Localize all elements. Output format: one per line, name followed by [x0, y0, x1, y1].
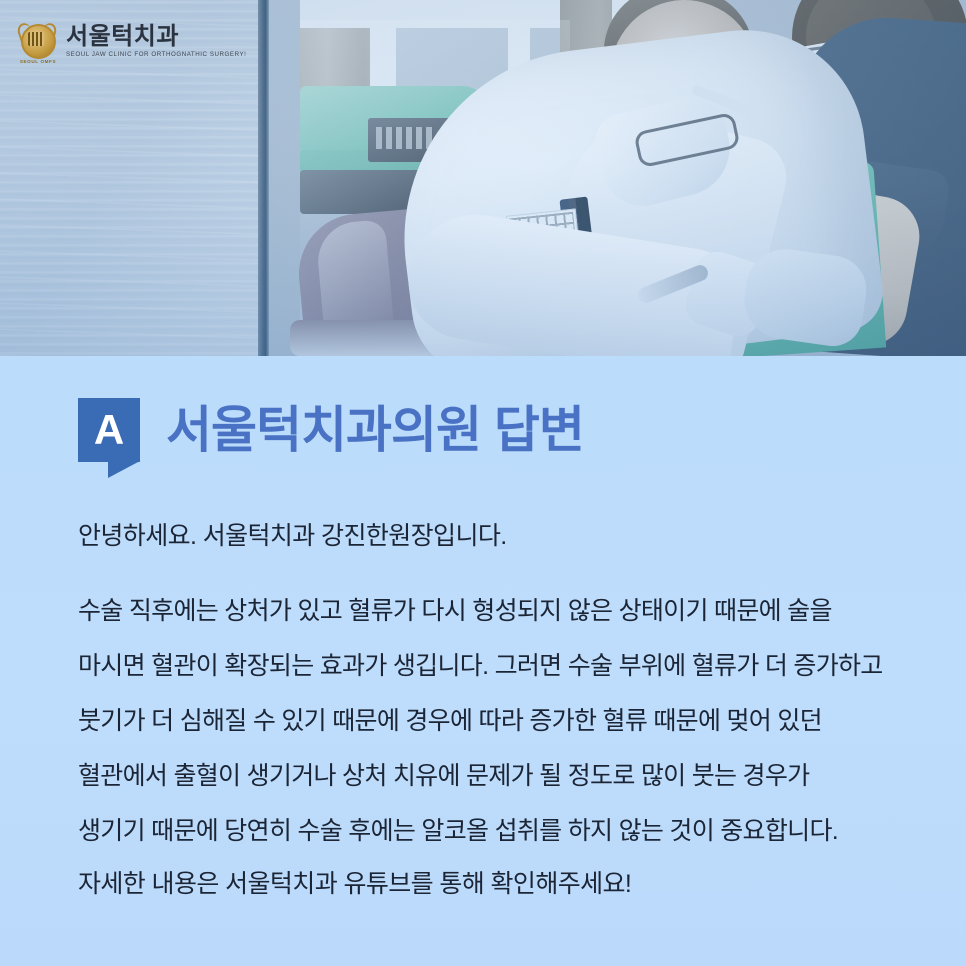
logo-name-ko: 서울턱치과	[66, 25, 246, 49]
answer-heading: A 서울턱치과의원 답변	[78, 398, 584, 462]
answer-body: 수술 직후에는 상처가 있고 혈류가 다시 형성되지 않은 상태이기 때문에 술…	[78, 584, 958, 859]
body-line: 수술 직후에는 상처가 있고 혈류가 다시 형성되지 않은 상태이기 때문에 술…	[78, 584, 958, 639]
crest-emblem-icon	[28, 32, 44, 46]
answer-badge: A	[78, 398, 140, 462]
page-title: 서울턱치과의원 답변	[166, 405, 584, 455]
logo-emblem-caption: SEOUL OMFS	[16, 59, 60, 64]
clinic-logo: SEOUL OMFS 서울턱치과 SEOUL JAW CLINIC FOR OR…	[18, 22, 246, 62]
body-line: 붓기가 더 심해질 수 있기 때문에 경우에 따라 증가한 혈류 때문에 멎어 …	[78, 694, 958, 749]
seoul-omfs-crest-icon: SEOUL OMFS	[18, 22, 58, 62]
body-line: 마시면 혈관이 확장되는 효과가 생깁니다. 그러면 수술 부위에 혈류가 더 …	[78, 639, 958, 694]
body-line: 혈관에서 출혈이 생기거나 상처 치유에 문제가 될 정도로 많이 붓는 경우가	[78, 749, 958, 804]
answer-card: SEOUL OMFS 서울턱치과 SEOUL JAW CLINIC FOR OR…	[0, 0, 966, 966]
logo-wordmark: 서울턱치과 SEOUL JAW CLINIC FOR ORTHOGNATHIC …	[66, 25, 246, 58]
logo-name-en: SEOUL JAW CLINIC FOR ORTHOGNATHIC SURGER…	[66, 52, 246, 58]
closing-text: 자세한 내용은 서울턱치과 유튜브를 통해 확인해주세요!	[78, 864, 631, 900]
door-jamb	[258, 0, 269, 356]
answer-panel: A 서울턱치과의원 답변 안녕하세요. 서울턱치과 강진한원장입니다. 수술 직…	[0, 356, 966, 966]
body-line: 생기기 때문에 당연히 수술 후에는 알코올 섭취를 하지 않는 것이 중요합니…	[78, 804, 958, 859]
speech-bubble-tail-icon	[108, 461, 140, 478]
greeting-text: 안녕하세요. 서울턱치과 강진한원장입니다.	[78, 516, 507, 552]
answer-badge-letter: A	[94, 409, 124, 451]
